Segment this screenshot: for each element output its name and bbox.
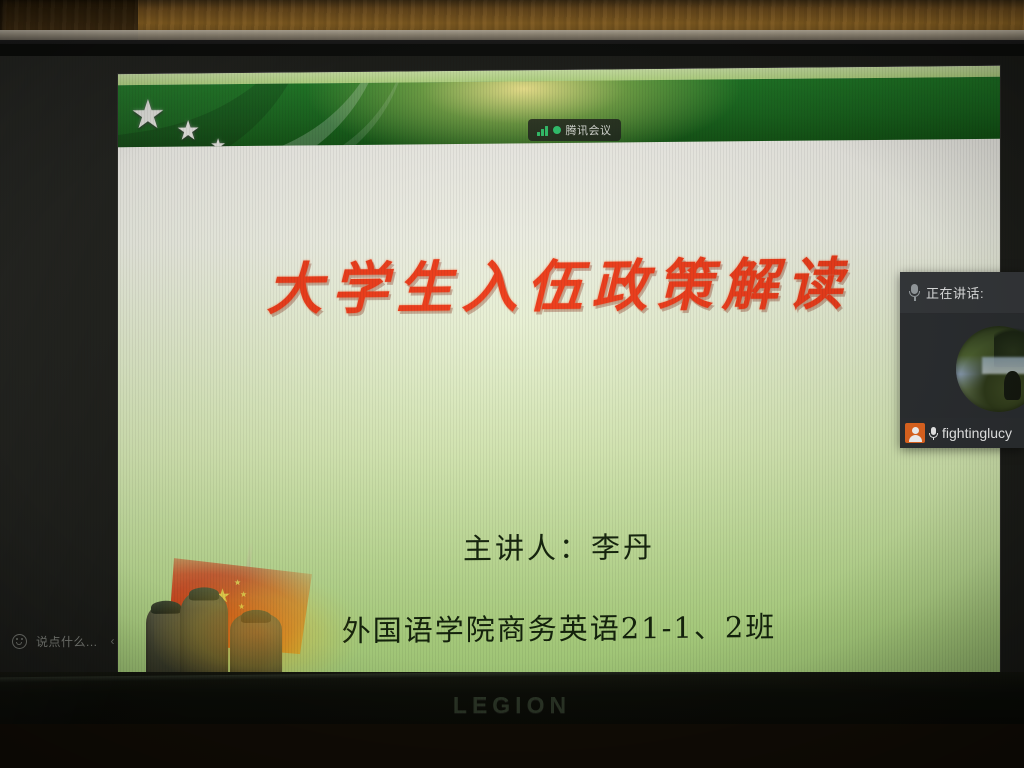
- speaking-panel[interactable]: 正在讲话: fightinglucy: [900, 272, 1024, 448]
- meeting-status-pill[interactable]: 腾讯会议: [528, 119, 621, 141]
- flag-star-icon: ★: [234, 579, 241, 587]
- chat-input-placeholder[interactable]: 说点什么...: [36, 633, 98, 650]
- legion-brand-logo: LEGION: [0, 692, 1024, 719]
- speaking-panel-header: 正在讲话:: [900, 272, 1024, 314]
- green-status-dot-icon: [553, 126, 561, 134]
- chevron-left-icon[interactable]: ‹: [111, 634, 115, 648]
- participant-name: fightinglucy: [942, 425, 1012, 441]
- laptop-screen: ★ ★ ★ 大学生入伍政策解读 主讲人：李丹 外国语学院商务英语21-1、2班 …: [0, 56, 1024, 724]
- meeting-app-name: 腾讯会议: [566, 122, 612, 138]
- participant-video-tile[interactable]: [900, 314, 1024, 418]
- microphone-icon: [929, 427, 938, 440]
- laptop-hinge: [0, 672, 1024, 682]
- laptop-bottom-bezel: LEGION: [0, 672, 1024, 724]
- rank-star-icon: ★: [210, 136, 226, 147]
- rank-star-icon: ★: [176, 117, 200, 144]
- participant-video-thumbnail: [956, 326, 1024, 412]
- photo-scene: ★ ★ ★ 大学生入伍政策解读 主讲人：李丹 外国语学院商务英语21-1、2班 …: [0, 0, 1024, 768]
- microphone-icon: [909, 284, 920, 301]
- slide-title: 大学生入伍政策解读: [118, 238, 1000, 327]
- signal-bars-icon: [537, 125, 548, 136]
- shared-slide: ★ ★ ★ 大学生入伍政策解读 主讲人：李丹 外国语学院商务英语21-1、2班 …: [118, 66, 1000, 724]
- flag-star-icon: ★: [238, 603, 245, 611]
- laptop-body: ★ ★ ★ 大学生入伍政策解读 主讲人：李丹 外国语学院商务英语21-1、2班 …: [0, 44, 1024, 724]
- flag-star-icon: ★: [240, 591, 247, 599]
- rank-star-icon: ★: [130, 95, 166, 135]
- smiley-icon[interactable]: [12, 634, 27, 649]
- participant-name-bar[interactable]: fightinglucy: [900, 418, 1024, 448]
- person-avatar-icon: [905, 423, 925, 443]
- speaking-label: 正在讲话:: [926, 283, 984, 302]
- chat-input-bar[interactable]: 说点什么... ‹: [4, 626, 123, 656]
